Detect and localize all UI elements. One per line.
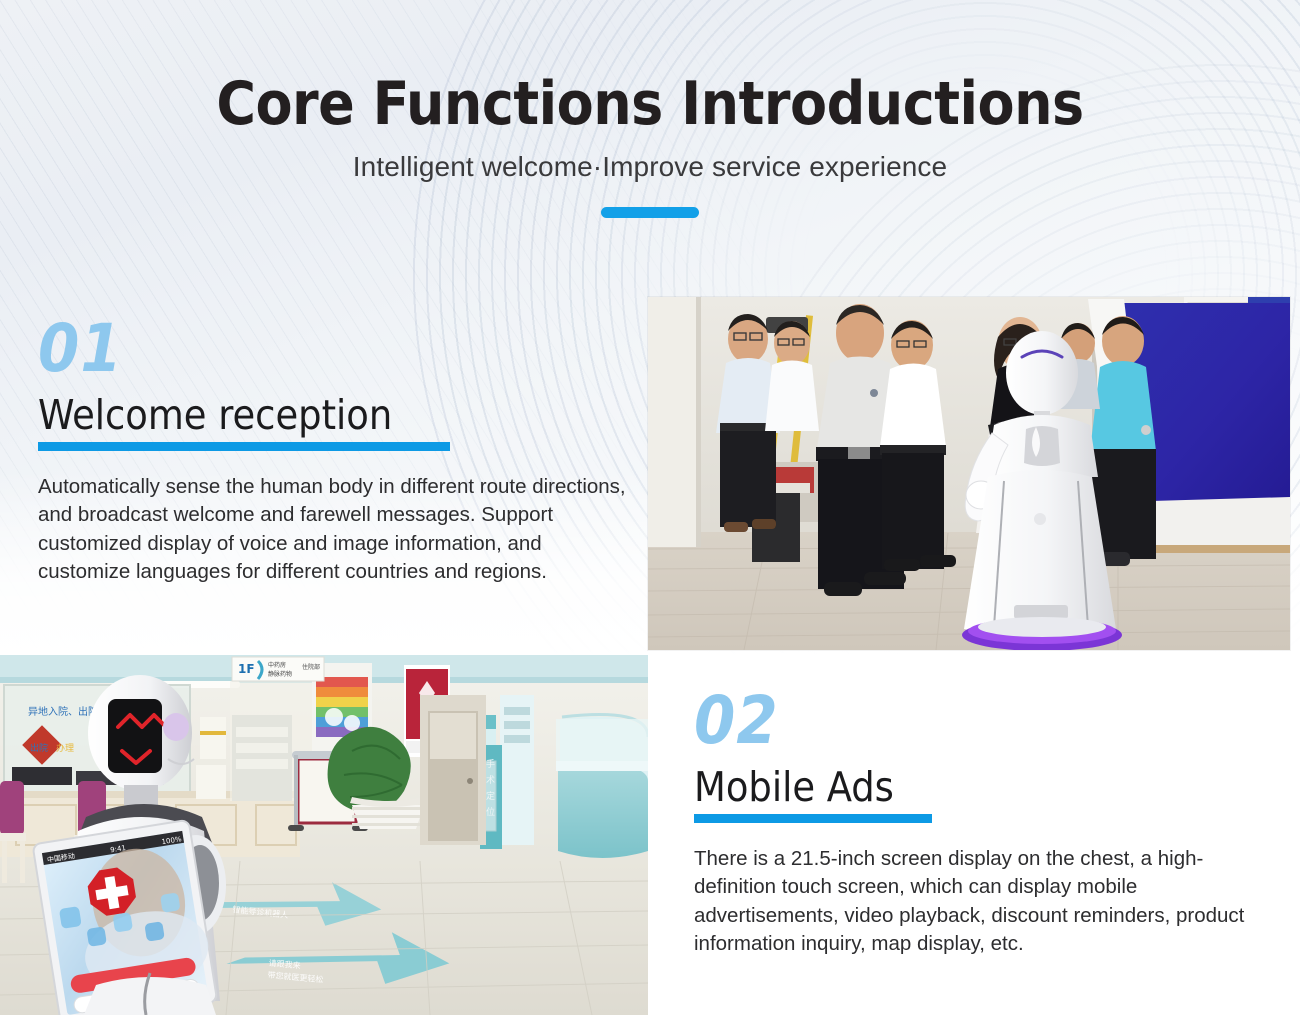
title-block: Core Functions Introductions Intelligent… [0, 72, 1300, 218]
section-02-mobile-ads: 02 Mobile Ads There is a 21.5-inch scree… [694, 690, 1276, 979]
page-subtitle: Intelligent welcome·Improve service expe… [0, 151, 1300, 183]
section-01-photo: 智能机器人 [648, 297, 1290, 650]
svg-text:办理: 办理 [56, 742, 74, 754]
svg-text:静脉药物: 静脉药物 [268, 670, 292, 678]
section-02-photo: 异地入院、出院 出院 办理 结算 [0, 655, 648, 1015]
svg-text:中药房: 中药房 [268, 661, 286, 669]
svg-text:住院部: 住院部 [302, 663, 320, 671]
svg-text:异地入院、出院: 异地入院、出院 [28, 705, 98, 718]
page-title: Core Functions Introductions [0, 72, 1300, 137]
section-02-body: There is a 21.5-inch screen display on t… [694, 845, 1276, 958]
section-01-body: Automatically sense the human body in di… [38, 473, 628, 586]
section-01-heading: Welcome reception [38, 393, 392, 437]
section-01-number: 01 [38, 318, 628, 381]
core-functions-slide: Core Functions Introductions Intelligent… [0, 0, 1300, 1015]
section-02-number: 02 [694, 690, 1276, 753]
section-02-underline-icon [694, 814, 932, 823]
title-rule-accent-icon [601, 207, 699, 218]
svg-text:1F: 1F [238, 662, 255, 676]
section-01-welcome-reception: 01 Welcome reception Automatically sense… [38, 318, 628, 607]
section-01-underline-icon [38, 442, 450, 451]
section-02-heading: Mobile Ads [694, 765, 894, 809]
svg-text:出院: 出院 [30, 742, 48, 754]
